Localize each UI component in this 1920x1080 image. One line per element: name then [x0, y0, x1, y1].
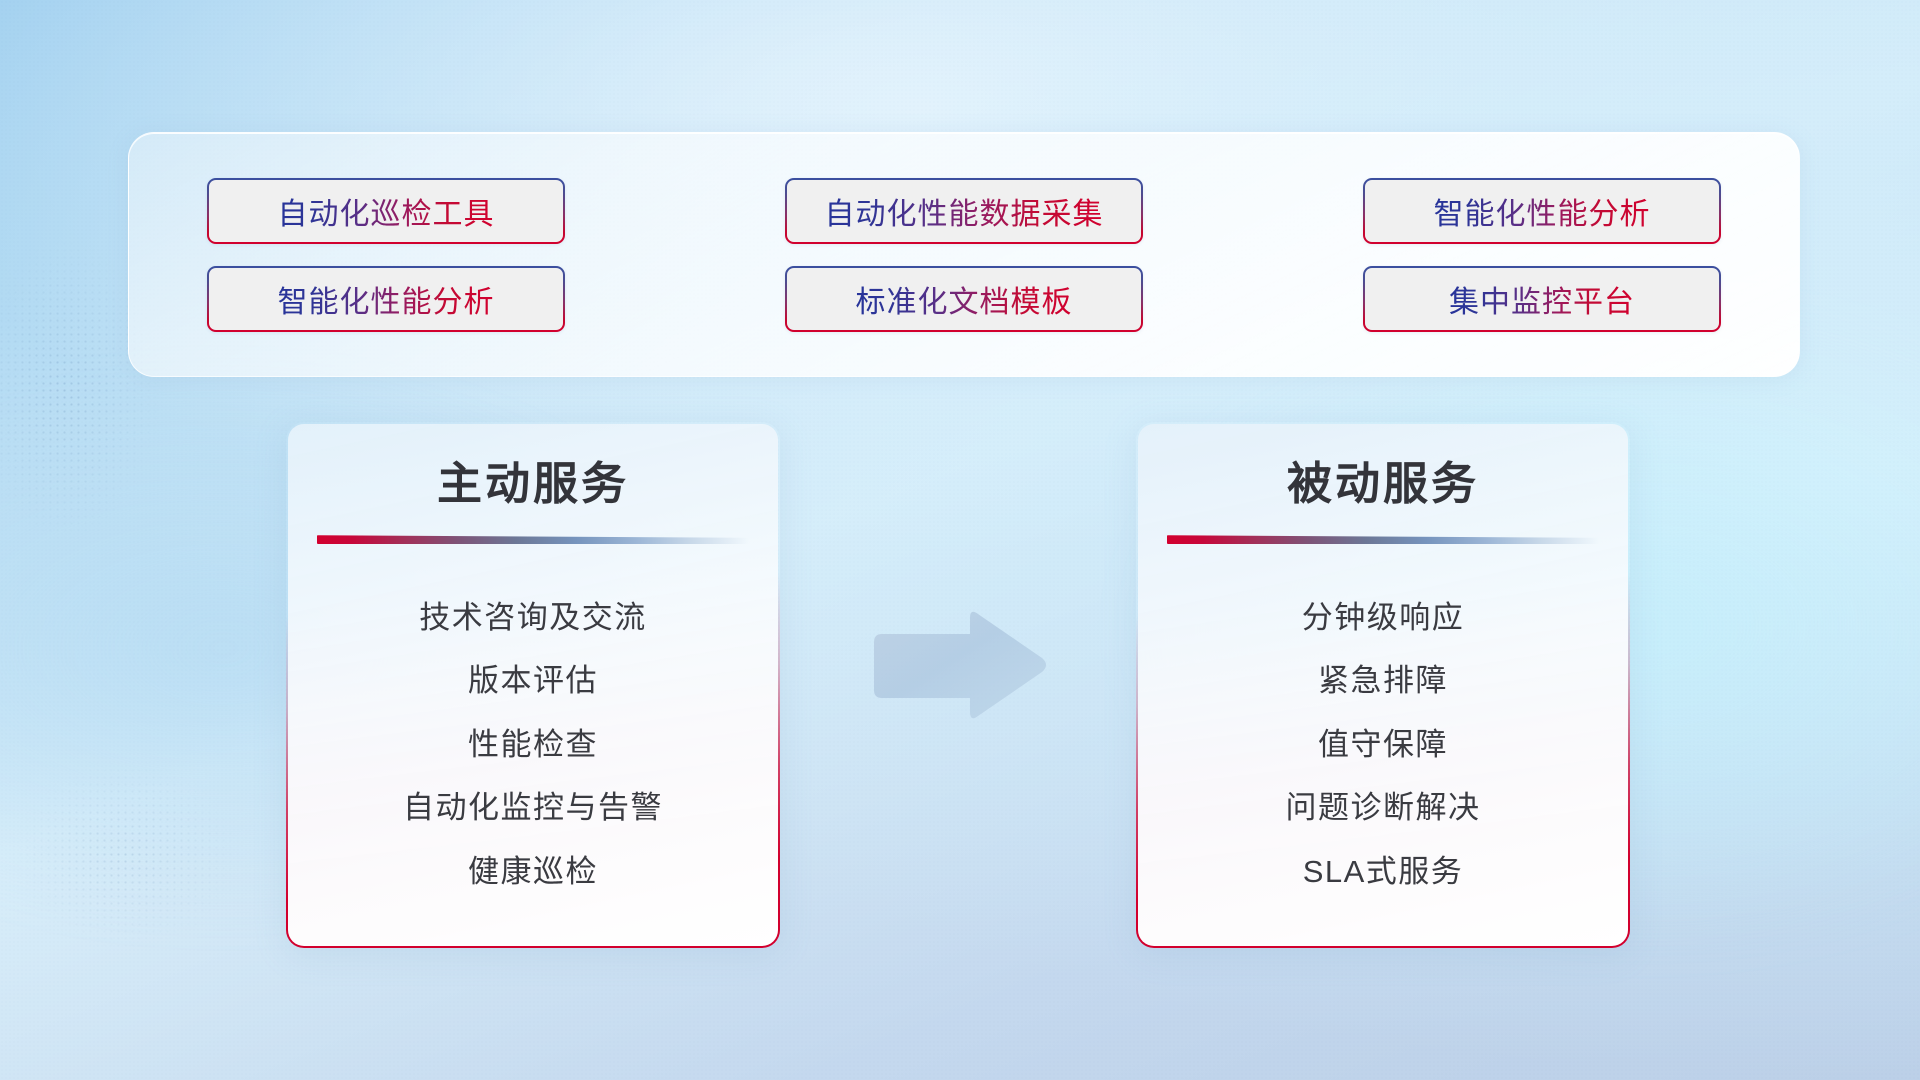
service-card-title: 被动服务 — [1287, 460, 1479, 507]
capability-pill-standard-document-template[interactable]: 标准化文档模板 — [785, 266, 1143, 332]
capability-row-1: 自动化巡检工具 自动化性能数据采集 智能化性能分析 — [207, 178, 1721, 244]
capability-pill-label: 标准化文档模板 — [856, 277, 1073, 321]
capability-pill-automated-performance-data-collection[interactable]: 自动化性能数据采集 — [785, 178, 1143, 244]
capability-pill-label: 智能化性能分析 — [1434, 189, 1651, 233]
service-card-proactive: 主动服务 技术咨询及交流 版本评估 性能检查 自动化监控与告警 健康巡检 — [286, 422, 780, 948]
service-card-list: 分钟级响应 紧急排障 值守保障 问题诊断解决 SLA式服务 — [1168, 574, 1598, 916]
capability-pill-label: 智能化性能分析 — [278, 277, 495, 321]
list-item: 紧急排障 — [1318, 662, 1448, 701]
capability-pill-label: 自动化巡检工具 — [278, 189, 495, 233]
capability-pill-intelligent-performance-analysis-2[interactable]: 智能化性能分析 — [207, 266, 565, 332]
divider-gradient-bar — [317, 535, 749, 544]
list-item: SLA式服务 — [1303, 853, 1464, 892]
capability-pill-intelligent-performance-analysis[interactable]: 智能化性能分析 — [1363, 178, 1721, 244]
capability-row-2: 智能化性能分析 标准化文档模板 集中监控平台 — [207, 266, 1721, 332]
divider-gradient-bar — [1167, 535, 1599, 544]
capability-pill-automated-inspection-tool[interactable]: 自动化巡检工具 — [207, 178, 565, 244]
service-card-divider — [1167, 535, 1599, 544]
service-card-list: 技术咨询及交流 版本评估 性能检查 自动化监控与告警 健康巡检 — [318, 574, 748, 916]
list-item: 技术咨询及交流 — [419, 599, 647, 638]
list-item: 性能检查 — [468, 726, 598, 765]
capability-panel: 自动化巡检工具 自动化性能数据采集 智能化性能分析 智能化性能分析 标准化文档模… — [128, 132, 1800, 377]
capability-pill-centralized-monitoring-platform[interactable]: 集中监控平台 — [1363, 266, 1721, 332]
service-card-divider — [317, 535, 749, 544]
list-item: 健康巡检 — [468, 853, 598, 892]
arrow-right-icon — [866, 606, 1052, 726]
list-item: 版本评估 — [468, 662, 598, 701]
capability-pill-label: 集中监控平台 — [1449, 277, 1635, 321]
list-item: 自动化监控与告警 — [403, 789, 663, 828]
service-card-reactive: 被动服务 分钟级响应 紧急排障 值守保障 问题诊断解决 SLA式服务 — [1136, 422, 1630, 948]
capability-pill-label: 自动化性能数据采集 — [825, 189, 1104, 233]
list-item: 分钟级响应 — [1302, 599, 1465, 638]
list-item: 值守保障 — [1318, 726, 1448, 765]
service-card-title: 主动服务 — [437, 460, 629, 507]
list-item: 问题诊断解决 — [1286, 789, 1481, 828]
